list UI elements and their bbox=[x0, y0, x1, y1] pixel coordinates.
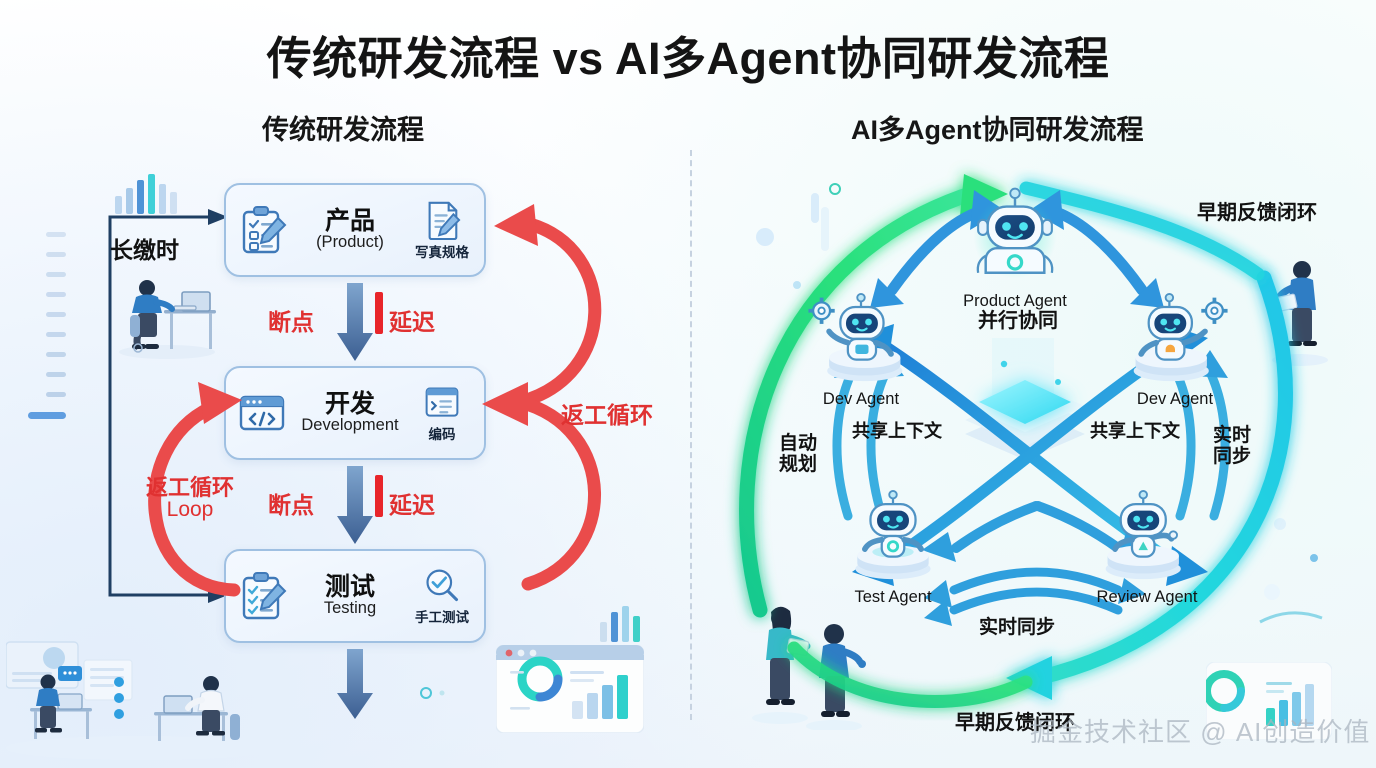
agent-test[interactable]: Test Agent bbox=[835, 490, 951, 607]
shared-context-core-icon bbox=[940, 330, 1110, 500]
mini-bar-chart-decor-left bbox=[115, 174, 187, 214]
stage-tag-development: 编码 bbox=[412, 384, 472, 443]
stage-tag-testing: 手工测试 bbox=[412, 567, 472, 626]
delay-bar-1 bbox=[375, 292, 383, 334]
agent-name-dev-right: Dev Agent bbox=[1117, 390, 1233, 409]
mini-bar-chart-decor-bottom bbox=[600, 604, 652, 642]
robot-icon bbox=[960, 182, 1070, 286]
stage-tag-product: 写真规格 bbox=[412, 200, 472, 261]
agent-dev-right[interactable]: Dev Agent bbox=[1117, 292, 1233, 409]
stage-box-testing[interactable]: 测试 Testing 手工测试 bbox=[224, 549, 486, 643]
arrow-product-to-dev bbox=[335, 283, 375, 363]
rework-loop-label-left: 返工循环 Loop bbox=[146, 476, 234, 522]
clipboard-pencil-icon bbox=[236, 204, 288, 256]
dashboard-widget-decor-left bbox=[496, 645, 644, 733]
robot-icon bbox=[835, 490, 951, 582]
agent-review[interactable]: Review Agent bbox=[1089, 490, 1205, 607]
left-vertical-scale-decor bbox=[28, 232, 80, 432]
two-people-collab-decor-right bbox=[742, 600, 882, 730]
rework-loop-label-right: 返工循环 bbox=[561, 396, 653, 430]
right-panel-title: AI多Agent协同研发流程 bbox=[851, 108, 1144, 147]
robot-icon bbox=[1089, 490, 1205, 582]
agent-name-dev-left: Dev Agent bbox=[803, 390, 919, 409]
label-early-feedback-top: 早期反馈闭环 bbox=[1197, 203, 1317, 225]
person-tablet-decor-right bbox=[1258, 248, 1342, 368]
stage-label-product: 产品 (Product) bbox=[288, 208, 412, 251]
left-panel-title: 传统研发流程 bbox=[262, 108, 424, 147]
arrow-dev-to-test bbox=[335, 466, 375, 546]
bubble-decor-far-right bbox=[1258, 500, 1368, 640]
agent-name-test: Test Agent bbox=[835, 588, 951, 607]
label-auto-planning: 自动 规划 bbox=[779, 434, 817, 475]
break-label-2: 断点 bbox=[268, 486, 314, 520]
delay-bar-2 bbox=[375, 475, 383, 517]
arrow-test-output bbox=[335, 649, 375, 721]
stage-label-development: 开发 Development bbox=[288, 391, 412, 434]
label-shared-context-left: 共享上下文 bbox=[852, 422, 942, 441]
stage-label-testing: 测试 Testing bbox=[288, 574, 412, 617]
delay-label-2: 延迟 bbox=[389, 486, 435, 520]
dot-decor-left bbox=[418, 684, 448, 702]
person-at-desk-decor bbox=[112, 270, 222, 360]
stage-box-development[interactable]: 开发 Development 编码 bbox=[224, 366, 486, 460]
label-shared-context-right: 共享上下文 bbox=[1090, 422, 1180, 441]
panel-divider bbox=[690, 150, 692, 720]
agent-name-product: Product Agent bbox=[957, 292, 1073, 311]
code-window-icon bbox=[236, 387, 288, 439]
watermark: 掘金技术社区 @ AI创造价值 bbox=[1030, 712, 1370, 749]
label-realtime-sync-right: 实时 同步 bbox=[1213, 426, 1251, 467]
page-title: 传统研发流程 vs AI多Agent协同研发流程 bbox=[0, 22, 1376, 87]
infographic-canvas: 传统研发流程 vs AI多Agent协同研发流程 传统研发流程 AI多Agent… bbox=[0, 0, 1376, 768]
label-realtime-sync-bottom: 实时同步 bbox=[979, 618, 1055, 639]
stage-box-product[interactable]: 产品 (Product) 写真规格 bbox=[224, 183, 486, 277]
delay-label-1: 延迟 bbox=[389, 303, 435, 337]
robot-gear-icon bbox=[1117, 292, 1233, 384]
magnifier-check-icon bbox=[423, 567, 461, 605]
label-parallel-collab: 并行协同 bbox=[978, 311, 1058, 333]
lead-time-label: 长缴时 bbox=[110, 231, 179, 265]
entry-arrow-path bbox=[96, 205, 236, 605]
document-pencil-icon bbox=[422, 200, 462, 240]
agent-name-review: Review Agent bbox=[1089, 588, 1205, 607]
terminal-window-icon bbox=[423, 384, 461, 422]
agent-dev-left[interactable]: Dev Agent bbox=[803, 292, 919, 409]
agent-product[interactable]: Product Agent bbox=[957, 182, 1073, 311]
break-label-1: 断点 bbox=[268, 303, 314, 337]
robot-gear-icon bbox=[803, 292, 919, 384]
checklist-pencil-icon bbox=[236, 570, 288, 622]
